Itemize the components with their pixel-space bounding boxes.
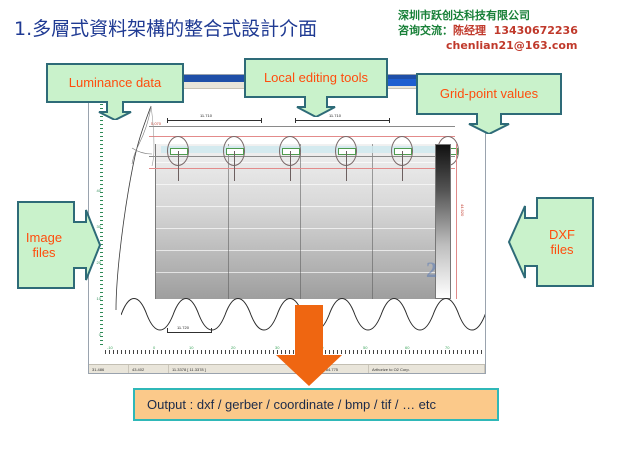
grid-point-value-box[interactable] [394,148,412,155]
vruler-label-10: 10 [97,296,101,301]
luminance-curve [105,104,185,314]
hruler-label-0: 0 [153,345,155,350]
callout-luminance-data[interactable]: Luminance data [47,64,183,100]
status-cell-1: 31.486 [89,365,129,373]
output-formats-label: Output : dxf / gerber / coordinate / bmp… [147,397,436,412]
status-cell-5: Arthorize to O2 Corp. [369,365,485,373]
dimension-top-span: 11.710 [200,113,212,118]
dimension-right-line [456,144,457,299]
callout-image-files-label-line2: files [32,245,55,260]
hruler-label-70: 70 [445,345,449,350]
dimension-right-height: 44.920 [460,204,465,216]
company-name: 深圳市跃创达科技有限公司 [398,8,638,23]
vruler-label-0: 0 [99,332,101,337]
callout-luminance-label: Luminance data [69,75,162,90]
output-flow-arrow-icon [272,305,346,387]
contact-line: 咨询交流：陈经理 13430672236 [398,23,638,38]
grid-point-value-box[interactable] [282,148,300,155]
gradient-strip [435,144,451,299]
watermark-logo: 2 [426,257,437,283]
callout-local-tools-label: Local editing tools [264,70,368,85]
dimension-bottom-span: 11.720 [177,325,189,330]
hruler-label-10: 10 [189,345,193,350]
contact-label: 咨询交流： [398,24,453,37]
page-title: 1.多層式資料架構的整合式設計介面 [14,14,317,41]
contact-person: 陈经理 [453,24,486,37]
grid-point-value-box[interactable] [226,148,244,155]
status-cell-2: 43.402 [129,365,169,373]
hruler-label-60: 60 [405,345,409,350]
hruler-label-neg10: -10 [107,345,113,350]
callout-dxf-files-label-line1: DXF [549,227,575,242]
hruler-label-20: 20 [231,345,235,350]
contact-phone: 13430672236 [494,24,578,37]
callout-local-editing-tools[interactable]: Local editing tools [245,59,387,95]
hruler-label-50: 50 [363,345,367,350]
callout-dxf-files-label-line2: files [550,242,573,257]
company-contact-block: 深圳市跃创达科技有限公司 咨询交流：陈经理 13430672236 chenli… [398,8,638,53]
callout-grid-point-values[interactable]: Grid-point values [417,74,561,112]
slide-canvas: 1.多層式資料架構的整合式設計介面 深圳市跃创达科技有限公司 咨询交流：陈经理 … [0,0,640,469]
contact-email: chenlian21@163.com [446,38,638,53]
callout-dxf-files[interactable]: DXF files [534,212,590,272]
grid-point-value-box[interactable] [338,148,356,155]
callout-image-files-label-line1: Image [26,230,62,245]
vruler-label-40: 40 [97,188,101,193]
callout-image-files[interactable]: Image files [18,215,70,275]
output-formats-box[interactable]: Output : dxf / gerber / coordinate / bmp… [133,388,499,421]
callout-grid-values-label: Grid-point values [440,86,538,101]
